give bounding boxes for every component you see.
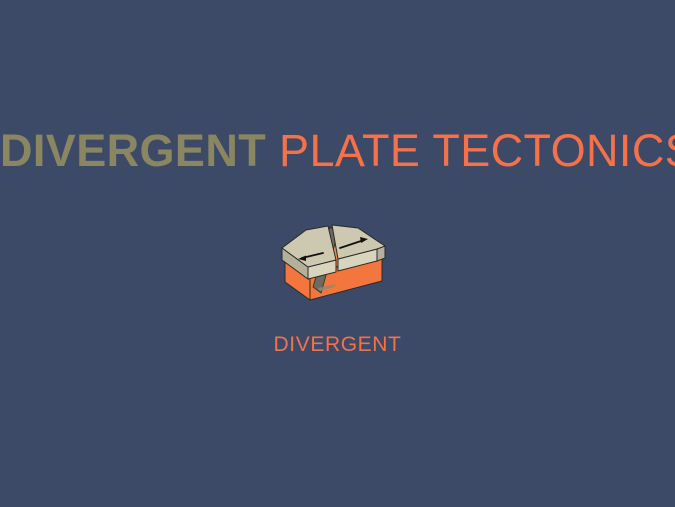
diagram-caption-label: DIVERGENT (274, 333, 402, 356)
page-title: DIVERGENT PLATE TECTONICS (0, 128, 675, 173)
slide-canvas: DIVERGENT PLATE TECTONICS (0, 0, 675, 507)
diagram-caption: DIVERGENT (0, 334, 675, 355)
title-primary-word: DIVERGENT (0, 125, 266, 176)
title-secondary-words: PLATE TECTONICS (279, 125, 675, 176)
divergent-plate-boundary-icon (278, 218, 398, 313)
diagram-container (0, 218, 675, 313)
